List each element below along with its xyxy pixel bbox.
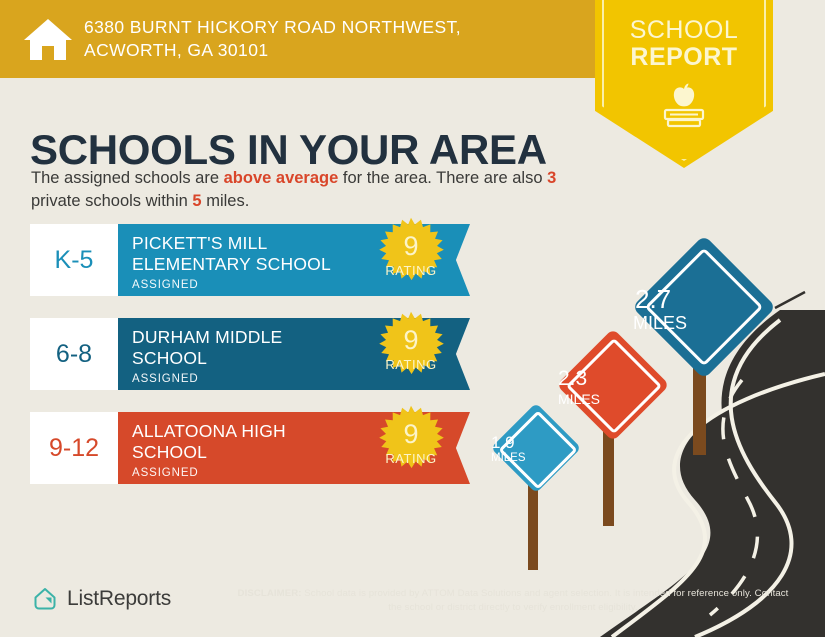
school-report-badge: SCHOOL REPORT: [595, 0, 773, 168]
sign-unit: MILES: [633, 314, 635, 332]
school-name-line-2: SCHOOL: [132, 442, 382, 463]
grade-box: 9-12: [30, 412, 118, 484]
sign-value: 1.9: [491, 434, 492, 451]
school-status: ASSIGNED: [132, 279, 382, 291]
listreports-logo[interactable]: ListReports: [32, 586, 171, 612]
subtitle-highlight-miles: 5: [192, 192, 201, 210]
rating-badge: 9 RATING: [367, 310, 455, 398]
header-bar: 6380 BURNT HICKORY ROAD NORTHWEST, ACWOR…: [0, 0, 598, 78]
badge-line-1: SCHOOL: [595, 17, 773, 44]
school-info: ALLATOONA HIGH SCHOOL ASSIGNED: [132, 421, 382, 479]
disclaimer-body: School data is provided by ATTOM Data So…: [302, 588, 789, 613]
listreports-house-pin-icon: [32, 586, 58, 612]
school-name-line-2: SCHOOL: [132, 348, 382, 369]
school-status: ASSIGNED: [132, 373, 382, 385]
grade-label: K-5: [55, 246, 94, 275]
subtitle-highlight-count: 3: [547, 169, 556, 187]
rating-value: 9: [367, 233, 455, 260]
rating-value: 9: [367, 327, 455, 354]
road-scene: 2.7 MILES 2.3 MILES 1.9 MILES: [480, 250, 825, 637]
disclaimer-label: DISCLAIMER:: [238, 588, 302, 599]
badge-line-2: REPORT: [595, 44, 773, 71]
badge-text: SCHOOL REPORT: [595, 17, 773, 71]
disclaimer-text: DISCLAIMER: School data is provided by A…: [233, 587, 793, 615]
grade-label: 6-8: [56, 340, 92, 369]
rating-value: 9: [367, 421, 455, 448]
header-address: 6380 BURNT HICKORY ROAD NORTHWEST, ACWOR…: [84, 16, 484, 62]
subtitle-part-2: for the area. There are also: [338, 169, 547, 187]
school-name-line-2: ELEMENTARY SCHOOL: [132, 254, 382, 275]
house-icon: [22, 14, 74, 64]
grade-box: K-5: [30, 224, 118, 296]
school-info: PICKETT'S MILL ELEMENTARY SCHOOL ASSIGNE…: [132, 233, 382, 291]
apple-on-books-icon: [655, 80, 713, 128]
grade-label: 9-12: [49, 434, 99, 463]
rating-caption: RATING: [367, 263, 455, 278]
subtitle-text: The assigned schools are above average f…: [31, 167, 576, 214]
subtitle-part-3: private schools within: [31, 192, 192, 210]
subtitle-part-1: The assigned schools are: [31, 169, 224, 187]
school-row[interactable]: 9-12 ALLATOONA HIGH SCHOOL ASSIGNED 9 RA…: [30, 412, 460, 484]
rating-caption: RATING: [367, 451, 455, 466]
rating-badge: 9 RATING: [367, 404, 455, 492]
school-row[interactable]: 6-8 DURHAM MIDDLE SCHOOL ASSIGNED 9 RATI…: [30, 318, 460, 390]
subtitle-part-4: miles.: [202, 192, 250, 210]
school-list: K-5 PICKETT'S MILL ELEMENTARY SCHOOL ASS…: [30, 224, 460, 506]
rating-badge: 9 RATING: [367, 216, 455, 304]
listreports-wordmark: ListReports: [67, 587, 171, 611]
grade-box: 6-8: [30, 318, 118, 390]
school-name-line-1: ALLATOONA HIGH: [132, 421, 382, 442]
rating-caption: RATING: [367, 357, 455, 372]
infographic-page: 6380 BURNT HICKORY ROAD NORTHWEST, ACWOR…: [0, 0, 825, 637]
school-name-line-1: DURHAM MIDDLE: [132, 327, 382, 348]
school-status: ASSIGNED: [132, 467, 382, 479]
subtitle-highlight-above-average: above average: [224, 169, 339, 187]
school-info: DURHAM MIDDLE SCHOOL ASSIGNED: [132, 327, 382, 385]
school-row[interactable]: K-5 PICKETT'S MILL ELEMENTARY SCHOOL ASS…: [30, 224, 460, 296]
sign-unit: MILES: [491, 453, 492, 465]
school-name-line-1: PICKETT'S MILL: [132, 233, 382, 254]
